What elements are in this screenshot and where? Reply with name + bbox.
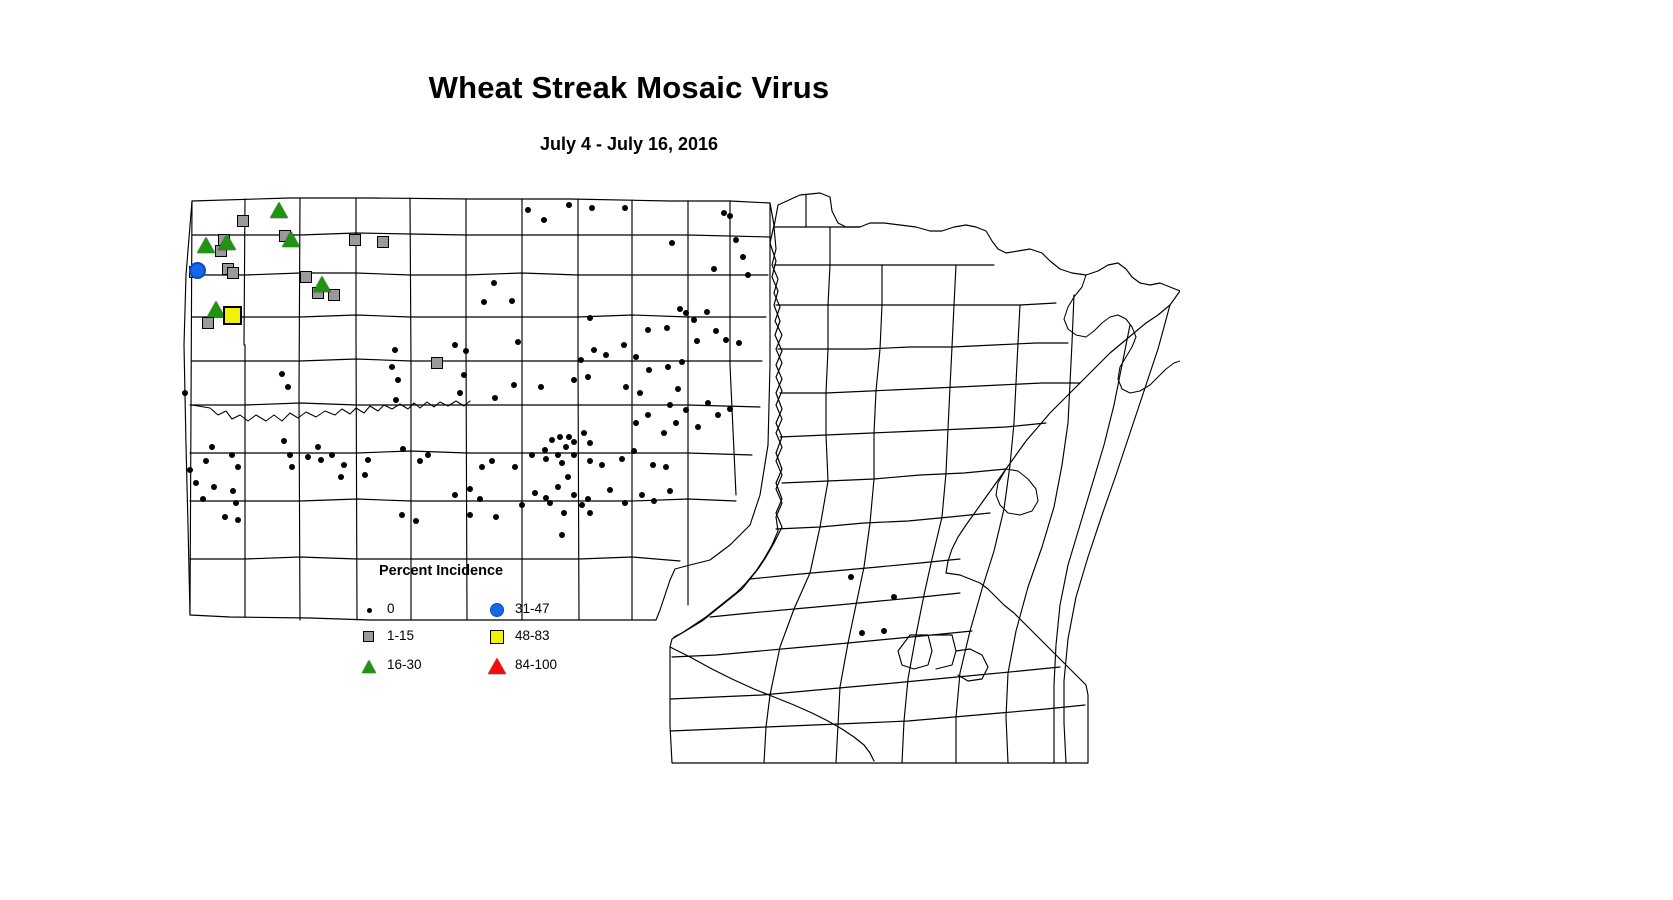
legend-label-84-100: 84-100 (515, 657, 557, 672)
legend-symbol-black-dot-icon (359, 599, 381, 621)
legend-symbol-blue-circle-icon (487, 599, 509, 621)
legend-label-16-30: 16-30 (387, 657, 422, 672)
legend-symbol-yellow-square-icon (487, 626, 509, 648)
map-canvas[interactable] (170, 165, 1180, 765)
legend-symbol-green-triangle-icon (359, 655, 381, 677)
legend-label-48-83: 48-83 (515, 628, 550, 643)
legend-label-0: 0 (387, 601, 395, 616)
map-page: Wheat Streak Mosaic Virus July 4 - July … (0, 0, 1673, 900)
legend-title: Percent Incidence (379, 563, 503, 579)
legend-label-1-15: 1-15 (387, 628, 414, 643)
page-title: Wheat Streak Mosaic Virus (0, 70, 1258, 106)
page-subtitle: July 4 - July 16, 2016 (0, 134, 1258, 155)
legend: Percent Incidence 0 1-15 16-30 31-4 (355, 555, 615, 690)
legend-symbol-gray-square-icon (359, 626, 381, 648)
legend-symbol-red-triangle-icon (487, 655, 509, 677)
state-county-outline-map (170, 165, 1180, 765)
legend-label-31-47: 31-47 (515, 601, 550, 616)
